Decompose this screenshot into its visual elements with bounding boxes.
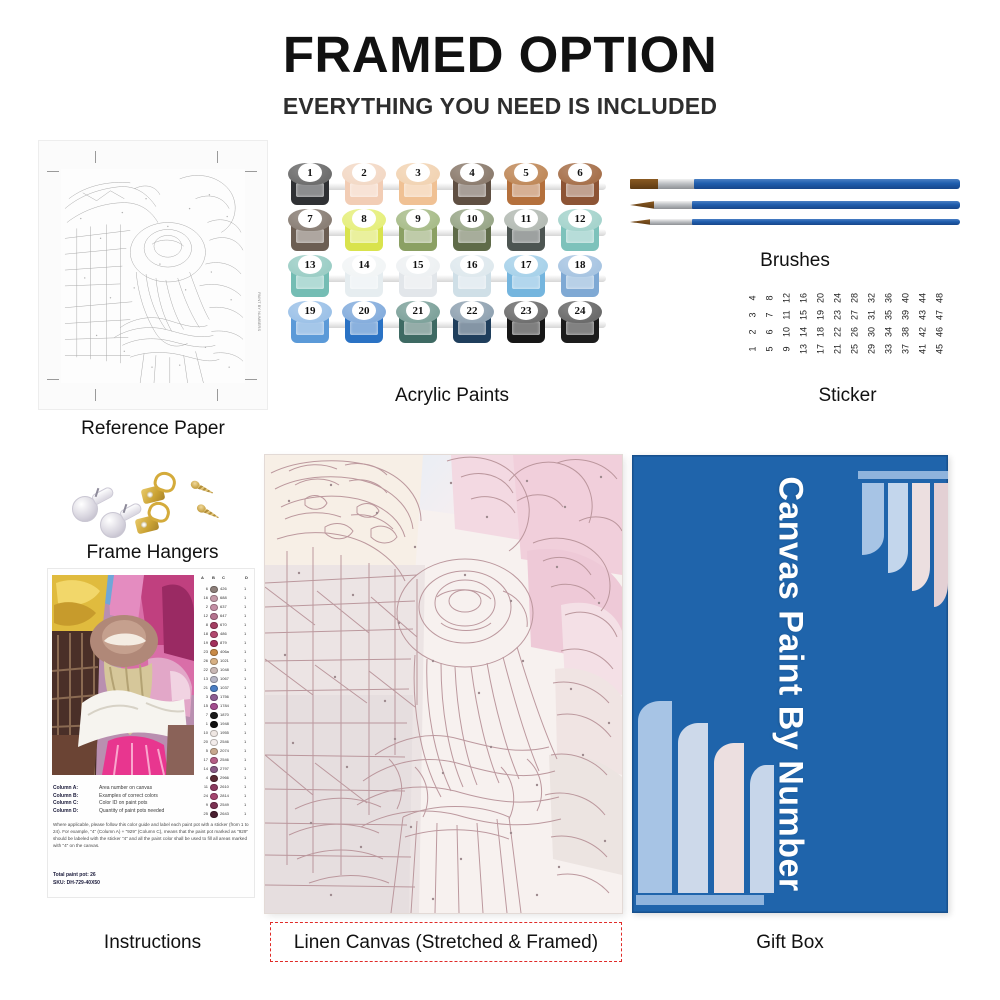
color-chart-row: 2110371 <box>198 684 252 693</box>
instructions-legend-row: Column D:Quantity of paint pots needed <box>53 808 251 816</box>
color-chart-color-id: 637 <box>220 604 227 609</box>
sticker-number-20: 20 <box>813 291 829 306</box>
color-chart-quantity: 1 <box>244 703 246 708</box>
color-chart-area-number: 15 <box>199 703 208 708</box>
sticker-number-42: 42 <box>915 325 931 340</box>
frame-hangers-label: Frame Hangers <box>45 542 260 564</box>
instructions-legend: Column A:Area number on canvasColumn B:E… <box>53 785 251 815</box>
color-chart-color-id: 1948 <box>220 721 229 726</box>
sticker-number-18: 18 <box>813 325 829 340</box>
color-chart-swatch <box>210 685 218 693</box>
d-ring-hanger-icon <box>142 472 176 502</box>
color-chart-quantity: 1 <box>244 622 246 627</box>
color-chart-quantity: 1 <box>244 730 246 735</box>
paint-pot-number: 22 <box>460 301 484 320</box>
color-chart-row: 429661 <box>198 774 252 783</box>
color-chart-row: 1517841 <box>198 702 252 711</box>
sticker-number-27: 27 <box>847 308 863 323</box>
paint-pot-6: 6 <box>558 163 602 207</box>
instructions-legend-row: Column C:Color ID on paint pots <box>53 800 251 808</box>
color-chart-row: 2210481 <box>198 666 252 675</box>
color-chart-quantity: 1 <box>244 694 246 699</box>
color-chart-swatch <box>210 604 218 612</box>
sticker-number-1: 1 <box>745 342 761 357</box>
sticker-number-26: 26 <box>847 325 863 340</box>
paint-pot-number: 10 <box>460 209 484 228</box>
sticker-column: 1234 <box>745 290 760 360</box>
sticker-number-7: 7 <box>762 308 778 323</box>
paint-pot-24: 24 <box>558 301 602 345</box>
sticker-column: 33343536 <box>881 290 896 360</box>
sticker-number-48: 48 <box>932 291 948 306</box>
color-chart-swatch <box>210 631 218 639</box>
paint-pot-number: 9 <box>406 209 430 228</box>
color-chart-swatch <box>210 730 218 738</box>
sticker-number-41: 41 <box>915 342 931 357</box>
sticker-number-45: 45 <box>932 342 948 357</box>
sticker-number-6: 6 <box>762 325 778 340</box>
sticker-number-46: 46 <box>932 325 948 340</box>
color-chart-area-number: 5 <box>199 748 208 753</box>
sticker-number-33: 33 <box>881 342 897 357</box>
instructions-label: Instructions <box>45 932 260 954</box>
sticker-number-5: 5 <box>762 342 778 357</box>
paint-pot-number: 4 <box>460 163 484 182</box>
color-chart-area-number: 14 <box>199 766 208 771</box>
frame-hangers-image <box>72 468 232 538</box>
sticker-number-37: 37 <box>898 342 914 357</box>
color-chart-quantity: 1 <box>244 613 246 618</box>
color-chart-swatch <box>210 613 218 621</box>
instructions-legend-value: Quantity of paint pots needed <box>99 808 164 814</box>
sticker-label: Sticker <box>745 385 950 407</box>
color-chart-color-id: 406a <box>220 649 229 654</box>
color-chart-row: 198791 <box>198 639 252 648</box>
sticker-column: 17181920 <box>813 290 828 360</box>
paint-pot-row: 123456 <box>288 163 616 209</box>
instructions-sheet-image: AB CD 6426116688126371126471867011848611… <box>47 568 255 898</box>
color-chart-swatch <box>210 757 218 765</box>
paint-pot-number: 2 <box>352 163 376 182</box>
color-chart-area-number: 26 <box>199 658 208 663</box>
color-chart-row: 119481 <box>198 720 252 729</box>
sticker-number-15: 15 <box>796 308 812 323</box>
color-chart-area-number: 13 <box>199 676 208 681</box>
paint-pot-number: 16 <box>460 255 484 274</box>
color-chart-row: 86701 <box>198 621 252 630</box>
sticker-number-28: 28 <box>847 291 863 306</box>
reference-paper-line-art <box>61 169 245 383</box>
paint-pot-number: 20 <box>352 301 376 320</box>
color-chart-quantity: 1 <box>244 721 246 726</box>
sticker-number-30: 30 <box>864 325 880 340</box>
color-chart-swatch <box>210 658 218 666</box>
color-chart-row: 1725461 <box>198 756 252 765</box>
color-chart-area-number: 4 <box>199 775 208 780</box>
color-chart-area-number: 22 <box>199 667 208 672</box>
instructions-painting-preview <box>52 575 194 775</box>
color-chart-area-number: 7 <box>199 712 208 717</box>
color-chart-swatch <box>210 676 218 684</box>
sticker-number-13: 13 <box>796 342 812 357</box>
reference-paper-label: Reference Paper <box>38 418 268 440</box>
color-chart-header: AB CD <box>198 575 252 584</box>
sticker-number-12: 12 <box>779 291 795 306</box>
paint-pot-9: 9 <box>396 209 440 253</box>
paint-pot-number: 17 <box>514 255 538 274</box>
instructions-legend-key: Column A: <box>53 785 78 791</box>
sticker-number-4: 4 <box>745 291 761 306</box>
sticker-number-22: 22 <box>830 325 846 340</box>
sticker-number-3: 3 <box>745 308 761 323</box>
paint-pot-number: 11 <box>514 209 538 228</box>
paint-pot-number: 24 <box>568 301 592 320</box>
color-chart-swatch <box>210 721 218 729</box>
screw-icon-2 <box>196 503 221 521</box>
color-chart-row: 184861 <box>198 630 252 639</box>
paint-pot-1: 1 <box>288 163 332 207</box>
paint-pot-row: 192021222324 <box>288 301 616 347</box>
linen-canvas-label: Linen Canvas (Stretched & Framed) <box>270 932 622 954</box>
reference-paper-image: PAINT BY NUMBERS <box>38 140 268 410</box>
instructions-legend-value: Color ID on paint pots <box>99 800 147 806</box>
paint-pot-4: 4 <box>450 163 494 207</box>
paint-pot-2: 2 <box>342 163 386 207</box>
product-infographic: FRAMED OPTION EVERYTHING YOU NEED IS INC… <box>0 0 1000 1000</box>
sticker-number-25: 25 <box>847 342 863 357</box>
color-chart-quantity: 1 <box>244 586 246 591</box>
color-chart-color-id: 2546 <box>220 757 229 762</box>
color-chart-quantity: 1 <box>244 604 246 609</box>
paint-pot-12: 12 <box>558 209 602 253</box>
paint-pot-17: 17 <box>504 255 548 299</box>
color-chart-quantity: 1 <box>244 739 246 744</box>
instructions-total-line: SKU: DH-729-40X50 <box>53 879 251 887</box>
color-chart-color-id: 2546 <box>220 739 229 744</box>
gift-box-label: Gift Box <box>632 932 948 954</box>
color-chart-quantity: 1 <box>244 631 246 636</box>
color-chart-swatch <box>210 748 218 756</box>
paint-pot-number: 7 <box>298 209 322 228</box>
instructions-legend-row: Column A:Area number on canvas <box>53 785 251 793</box>
instructions-legend-value: Examples of correct colors <box>99 793 158 799</box>
color-chart-color-id: 670 <box>220 622 227 627</box>
color-chart-swatch <box>210 766 218 774</box>
color-chart-area-number: 3 <box>199 694 208 699</box>
sticker-number-39: 39 <box>898 308 914 323</box>
color-chart-color-id: 1784 <box>220 703 229 708</box>
sticker-number-44: 44 <box>915 291 931 306</box>
color-chart-row: 1019551 <box>198 729 252 738</box>
color-chart-row: 520741 <box>198 747 252 756</box>
color-chart-color-id: 1021 <box>220 658 229 663</box>
instructions-legend-value: Area number on canvas <box>99 785 152 791</box>
color-chart-color-id: 486 <box>220 631 227 636</box>
sticker-sheet-image: 1234567891011121314151617181920212223242… <box>745 290 950 360</box>
color-chart-quantity: 1 <box>244 757 246 762</box>
paint-pot-13: 13 <box>288 255 332 299</box>
sticker-number-38: 38 <box>898 325 914 340</box>
paint-pot-number: 21 <box>406 301 430 320</box>
paint-pot-16: 16 <box>450 255 494 299</box>
instructions-legend-row: Column B:Examples of correct colors <box>53 793 251 801</box>
sticker-number-19: 19 <box>813 308 829 323</box>
sticker-number-35: 35 <box>881 308 897 323</box>
color-chart-row: 126471 <box>198 612 252 621</box>
paint-pot-number: 6 <box>568 163 592 182</box>
color-chart-area-number: 23 <box>199 649 208 654</box>
color-chart-color-id: 2074 <box>220 748 229 753</box>
paint-pot-number: 12 <box>568 209 592 228</box>
color-chart-area-number: 17 <box>199 757 208 762</box>
color-chart-swatch <box>210 667 218 675</box>
sticker-number-43: 43 <box>915 308 931 323</box>
sticker-number-10: 10 <box>779 325 795 340</box>
color-chart-swatch <box>210 694 218 702</box>
color-chart-area-number: 16 <box>199 595 208 600</box>
color-chart-color-id: 688 <box>220 595 227 600</box>
paint-pot-number: 5 <box>514 163 538 182</box>
sticker-number-9: 9 <box>779 342 795 357</box>
color-chart-area-number: 20 <box>199 739 208 744</box>
paint-pot-number: 3 <box>406 163 430 182</box>
color-chart-swatch <box>210 640 218 648</box>
paint-pot-number: 14 <box>352 255 376 274</box>
screw-icon <box>189 479 214 496</box>
color-chart-row: 1427971 <box>198 765 252 774</box>
instructions-note: Where applicable, please follow this col… <box>53 821 251 849</box>
paint-pot-number: 8 <box>352 209 376 228</box>
color-chart-area-number: 12 <box>199 613 208 618</box>
color-chart-area-number: 2 <box>199 604 208 609</box>
color-chart-row: 166881 <box>198 594 252 603</box>
paint-pot-3: 3 <box>396 163 440 207</box>
paint-pot-number: 1 <box>298 163 322 182</box>
color-chart-area-number: 19 <box>199 640 208 645</box>
sticker-number-31: 31 <box>864 308 880 323</box>
color-chart-color-id: 2797 <box>220 766 229 771</box>
instructions-totals: Total paint pot: 26SKU: DH-729-40X50 <box>53 871 251 887</box>
color-chart-quantity: 1 <box>244 748 246 753</box>
color-chart-color-id: 1067 <box>220 676 229 681</box>
acrylic-paints-label: Acrylic Paints <box>288 385 616 407</box>
instructions-legend-key: Column B: <box>53 793 78 799</box>
paint-pot-number: 15 <box>406 255 430 274</box>
sticker-number-2: 2 <box>745 325 761 340</box>
sticker-number-24: 24 <box>830 291 846 306</box>
color-chart-swatch <box>210 739 218 747</box>
color-chart-row: 2025461 <box>198 738 252 747</box>
color-chart-swatch <box>210 649 218 657</box>
paint-pot-row: 131415161718 <box>288 255 616 301</box>
color-chart-row: 1310671 <box>198 675 252 684</box>
color-chart-area-number: 8 <box>199 622 208 627</box>
paint-pot-number: 13 <box>298 255 322 274</box>
sticker-column: 45464748 <box>932 290 947 360</box>
sticker-column: 29303132 <box>864 290 879 360</box>
sticker-number-11: 11 <box>779 308 795 323</box>
d-ring-hanger-icon-2 <box>136 502 170 532</box>
color-chart-color-id: 1756 <box>220 694 229 699</box>
sticker-column: 37383940 <box>898 290 913 360</box>
paint-pot-5: 5 <box>504 163 548 207</box>
sticker-column: 25262728 <box>847 290 862 360</box>
color-chart-quantity: 1 <box>244 658 246 663</box>
instructions-legend-key: Column C: <box>53 800 78 806</box>
color-chart-quantity: 1 <box>244 775 246 780</box>
paint-pot-22: 22 <box>450 301 494 345</box>
sticker-number-8: 8 <box>762 291 778 306</box>
color-chart-color-id: 647 <box>220 613 227 618</box>
color-chart-quantity: 1 <box>244 667 246 672</box>
color-chart-swatch <box>210 775 218 783</box>
color-chart-color-id: 1955 <box>220 730 229 735</box>
color-chart-swatch <box>210 703 218 711</box>
acrylic-paints-image: 123456789101112131415161718192021222324 <box>288 163 616 353</box>
sticker-number-29: 29 <box>864 342 880 357</box>
sticker-column: 5678 <box>762 290 777 360</box>
sticker-number-40: 40 <box>898 291 914 306</box>
page-subtitle: EVERYTHING YOU NEED IS INCLUDED <box>0 93 1000 120</box>
color-chart-color-id: 1037 <box>220 685 229 690</box>
sticker-number-36: 36 <box>881 291 897 306</box>
color-chart-swatch <box>210 586 218 594</box>
page-title: FRAMED OPTION <box>0 28 1000 82</box>
color-chart-quantity: 1 <box>244 712 246 717</box>
sticker-number-16: 16 <box>796 291 812 306</box>
paint-pot-10: 10 <box>450 209 494 253</box>
paint-pot-8: 8 <box>342 209 386 253</box>
color-chart-quantity: 1 <box>244 766 246 771</box>
sticker-number-47: 47 <box>932 308 948 323</box>
sticker-column: 13141516 <box>796 290 811 360</box>
paint-pot-18: 18 <box>558 255 602 299</box>
color-chart-color-id: 426 <box>220 586 227 591</box>
sticker-column: 9101112 <box>779 290 794 360</box>
paint-pot-number: 23 <box>514 301 538 320</box>
color-chart-area-number: 6 <box>199 586 208 591</box>
reference-paper-side-text: PAINT BY NUMBERS <box>257 292 262 331</box>
color-chart-row: 317561 <box>198 693 252 702</box>
color-chart-row: 26371 <box>198 603 252 612</box>
sticker-column: 21222324 <box>830 290 845 360</box>
paint-pot-14: 14 <box>342 255 386 299</box>
sticker-number-14: 14 <box>796 325 812 340</box>
sticker-column: 41424344 <box>915 290 930 360</box>
sticker-number-32: 32 <box>864 291 880 306</box>
color-chart-quantity: 1 <box>244 640 246 645</box>
paint-pot-21: 21 <box>396 301 440 345</box>
color-chart-swatch <box>210 595 218 603</box>
color-chart-color-id: 2966 <box>220 775 229 780</box>
color-chart-quantity: 1 <box>244 676 246 681</box>
instructions-legend-key: Column D: <box>53 808 78 814</box>
color-chart-quantity: 1 <box>244 649 246 654</box>
color-chart-row: 64261 <box>198 585 252 594</box>
color-chart-area-number: 1 <box>199 721 208 726</box>
color-chart-area-number: 21 <box>199 685 208 690</box>
color-chart-row: 23406a1 <box>198 648 252 657</box>
color-chart-color-id: 1870 <box>220 712 229 717</box>
color-chart-row: 2610211 <box>198 657 252 666</box>
paint-pot-23: 23 <box>504 301 548 345</box>
paint-pot-15: 15 <box>396 255 440 299</box>
sticker-number-23: 23 <box>830 308 846 323</box>
paint-pot-20: 20 <box>342 301 386 345</box>
paint-pot-row: 789101112 <box>288 209 616 255</box>
paint-pot-11: 11 <box>504 209 548 253</box>
paint-pot-number: 18 <box>568 255 592 274</box>
paint-pot-7: 7 <box>288 209 332 253</box>
color-chart-area-number: 10 <box>199 730 208 735</box>
color-chart-swatch <box>210 622 218 630</box>
color-chart-row: 718701 <box>198 711 252 720</box>
color-chart-color-id: 1048 <box>220 667 229 672</box>
color-chart-quantity: 1 <box>244 685 246 690</box>
gift-box-text: Canvas Paint By Number <box>771 476 810 891</box>
brushes-label: Brushes <box>630 250 960 272</box>
color-chart-area-number: 18 <box>199 631 208 636</box>
paint-pot-number: 19 <box>298 301 322 320</box>
instructions-total-line: Total paint pot: 26 <box>53 871 251 879</box>
linen-canvas-image <box>265 455 622 913</box>
brushes-image <box>630 175 960 245</box>
sticker-number-21: 21 <box>830 342 846 357</box>
color-chart-quantity: 1 <box>244 595 246 600</box>
sticker-number-34: 34 <box>881 325 897 340</box>
paint-pot-19: 19 <box>288 301 332 345</box>
color-chart-color-id: 879 <box>220 640 227 645</box>
gift-box-image: Canvas Paint By Number <box>632 455 948 913</box>
sticker-number-17: 17 <box>813 342 829 357</box>
color-chart-swatch <box>210 712 218 720</box>
